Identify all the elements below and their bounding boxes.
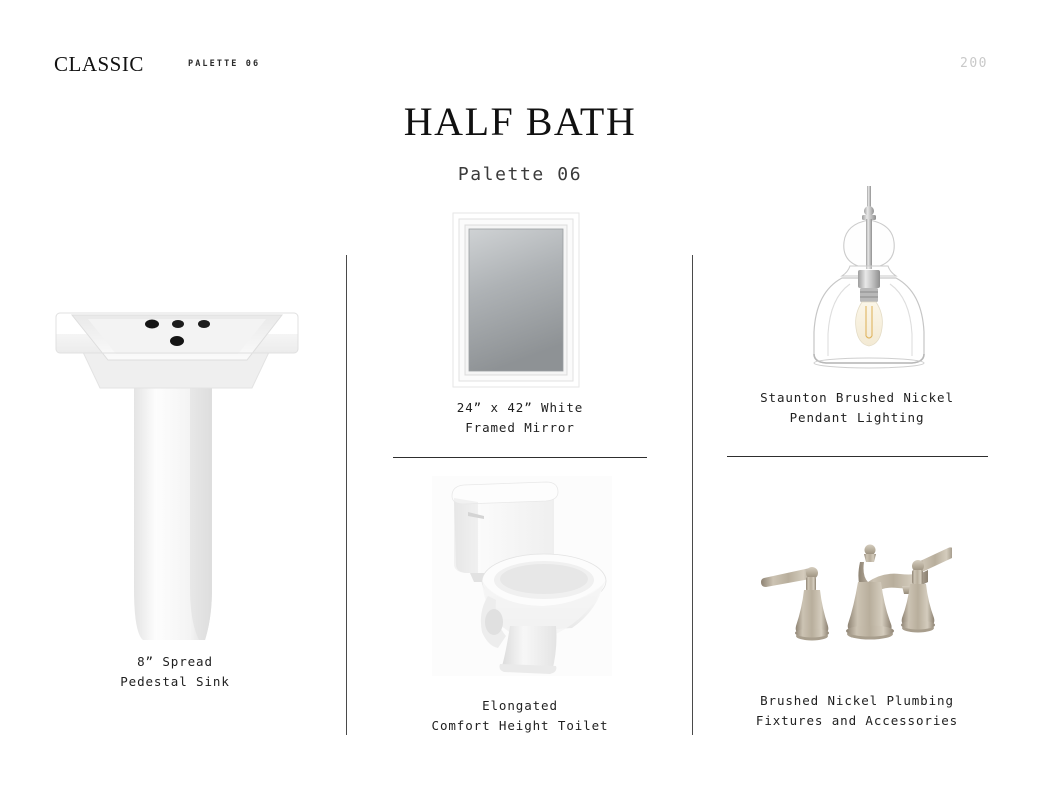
pendant-light-image xyxy=(786,186,956,376)
pedestal-sink-image xyxy=(42,288,312,643)
framed-mirror-caption: 24” x 42” White Framed Mirror xyxy=(388,398,652,438)
faucet-image xyxy=(742,532,952,672)
horizontal-divider-middle-column xyxy=(393,457,647,458)
toilet-caption: Elongated Comfort Height Toilet xyxy=(388,696,652,736)
toilet-image xyxy=(432,476,612,676)
framed-mirror-image xyxy=(452,212,580,388)
brand-label: CLASSIC xyxy=(54,52,144,77)
vertical-divider-left xyxy=(346,255,347,735)
page-header: CLASSIC PALETTE 06 200 xyxy=(0,0,1040,90)
page-title: HALF BATH xyxy=(0,98,1040,145)
page-number: 200 xyxy=(960,56,988,71)
faucet-caption: Brushed Nickel Plumbing Fixtures and Acc… xyxy=(722,691,992,731)
vertical-divider-right xyxy=(692,255,693,735)
palette-tag-label: PALETTE 06 xyxy=(188,59,260,69)
pedestal-sink-caption: 8” Spread Pedestal Sink xyxy=(40,652,310,692)
page-subtitle: Palette 06 xyxy=(0,164,1040,185)
pendant-light-caption: Staunton Brushed Nickel Pendant Lighting xyxy=(722,388,992,428)
horizontal-divider-right-column xyxy=(727,456,988,457)
